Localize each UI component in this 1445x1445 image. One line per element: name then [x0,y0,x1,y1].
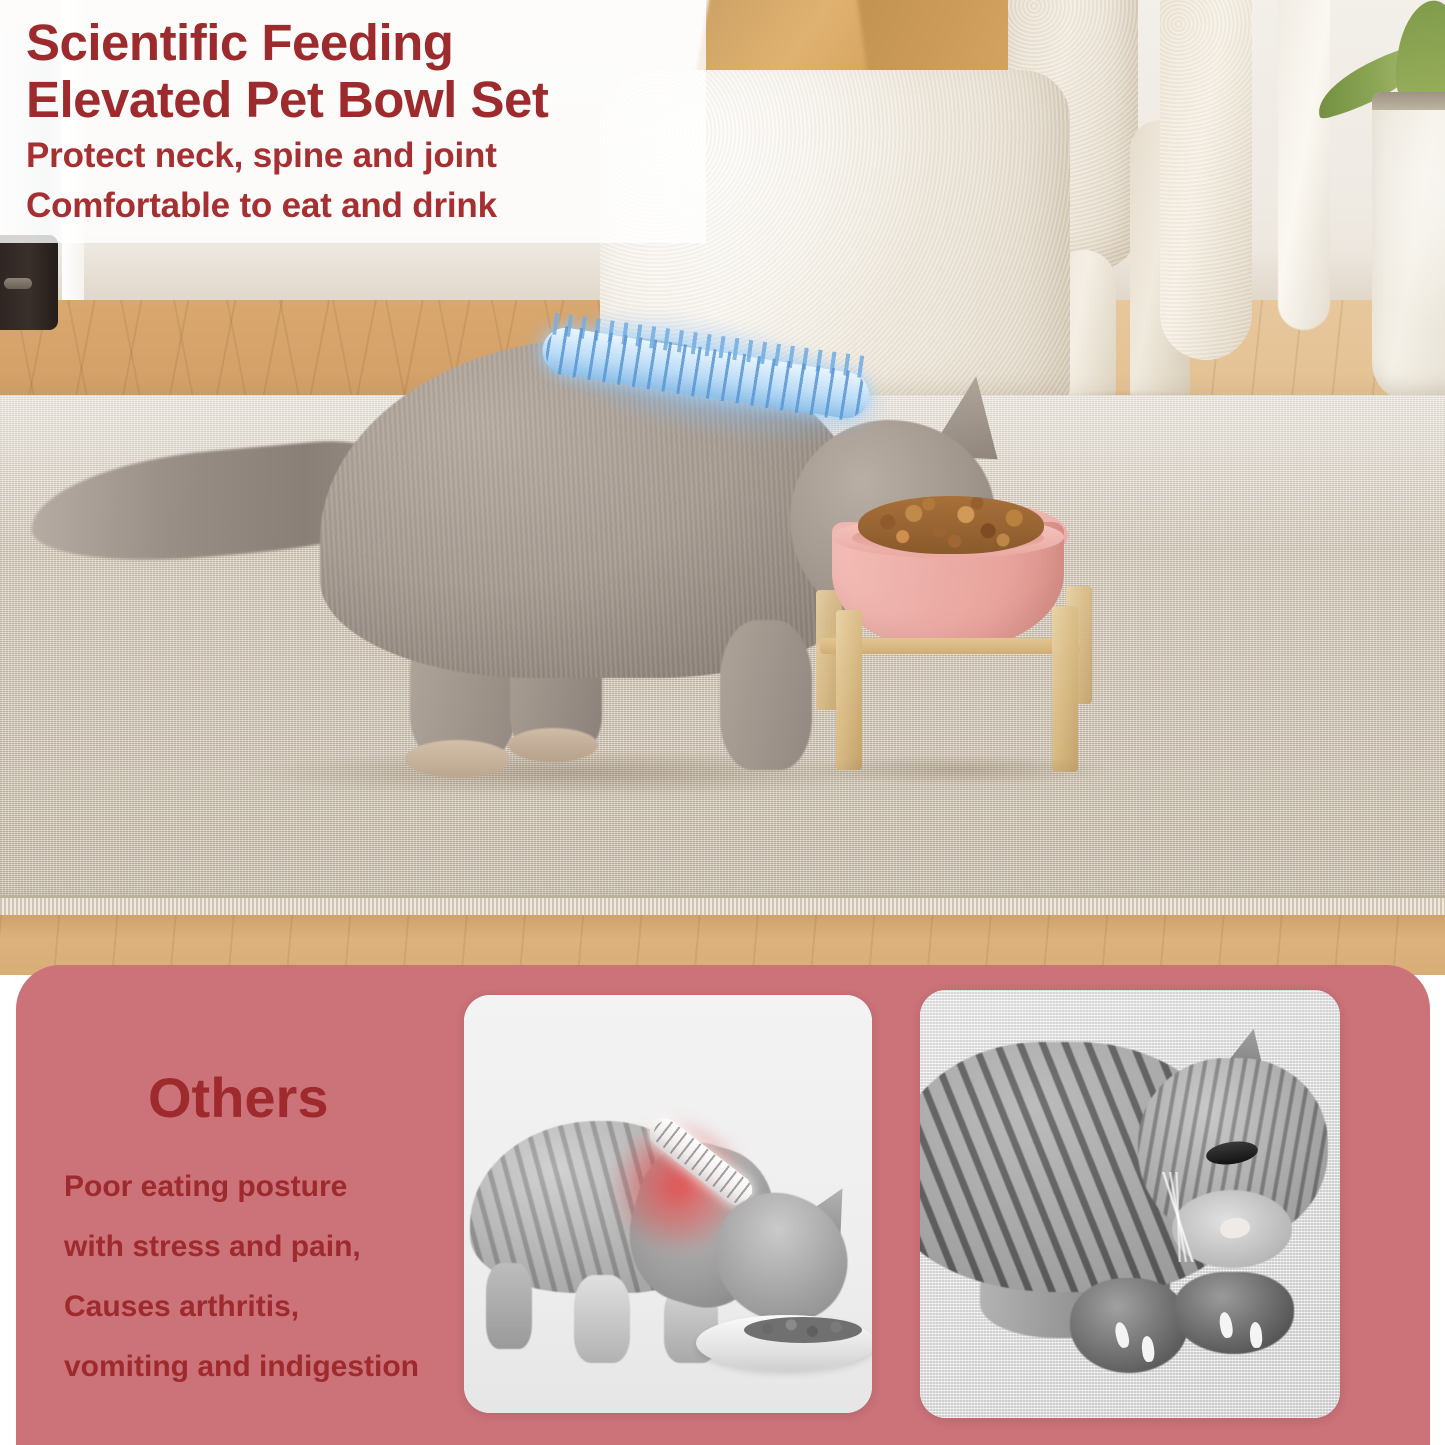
planter-rim [1372,92,1445,110]
header-text-wrap: Scientific Feeding Elevated Pet Bowl Set… [26,14,706,228]
page-subtitle-line-2: Comfortable to eat and drink [26,184,706,228]
photo-right-cat-paw-2 [1174,1272,1294,1354]
photo-card-cat-sleeping [920,990,1340,1418]
page-subtitle-line-1: Protect neck, spine and joint [26,134,706,178]
concrete-planter [1372,92,1445,402]
cat-front-leg [720,620,812,770]
floor-plate-food [744,1317,862,1343]
others-line-1: Poor eating posture [64,1157,454,1217]
photo-right-cat-paw-1 [1070,1278,1188,1373]
photo-left-cat-leg-1 [486,1263,532,1349]
header-text-plate: Scientific Feeding Elevated Pet Bowl Set… [0,0,706,243]
cat-paw-1 [405,740,510,778]
others-line-3: Causes arthritis, [64,1277,454,1337]
background-vase [1278,0,1330,330]
stand-leg-front-left [836,610,862,770]
stand-shadow [810,755,1110,785]
others-description: Poor eating posture with stress and pain… [64,1157,454,1397]
hero-scene-photo: Scientific Feeding Elevated Pet Bowl Set… [0,0,1445,975]
appliance-handle [4,278,32,289]
page-title-line-2: Elevated Pet Bowl Set [26,71,706,128]
photo-card-kitten-eating-floor [464,995,872,1413]
elevated-pet-bowl-set [800,490,1110,780]
dry-cat-food [858,496,1044,554]
others-line-4: vomiting and indigestion [64,1337,454,1397]
cat-paw-2 [508,728,598,762]
product-marketing-image: Scientific Feeding Elevated Pet Bowl Set… [0,0,1445,1445]
photo-right-cat-whiskers [1090,1172,1270,1262]
stand-leg-front-right [1052,606,1078,772]
photo-left-cat-leg-2 [574,1275,630,1363]
others-heading: Others [148,1065,329,1130]
others-line-2: with stress and pain, [64,1217,454,1277]
page-title-line-1: Scientific Feeding [26,14,706,71]
cream-column [1160,0,1252,360]
